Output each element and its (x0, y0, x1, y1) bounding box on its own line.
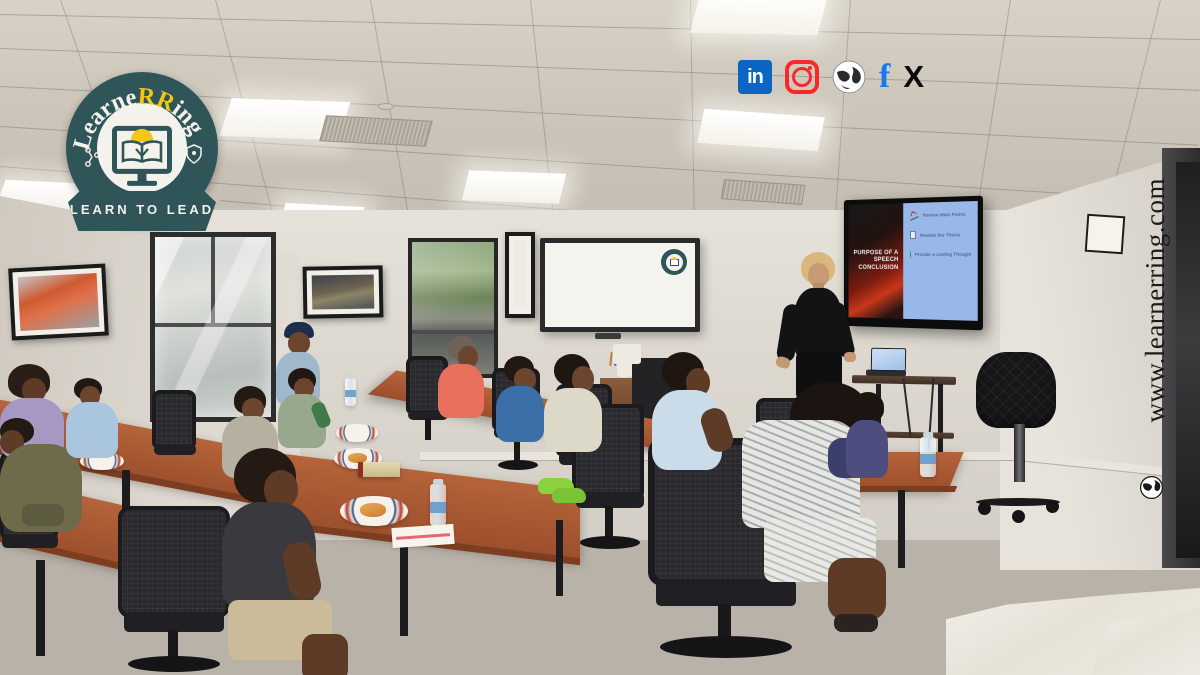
wall-display: PURPOSE OF A SPEECH CONCLUSION Review Ma… (844, 196, 983, 331)
water-bottle (430, 484, 446, 526)
ceiling-vent (319, 115, 433, 147)
whiteboard (540, 238, 700, 332)
table-leg (898, 490, 905, 568)
bottle-label (345, 390, 356, 397)
document-icon (910, 231, 916, 239)
framed-photo-helicopter (8, 264, 109, 341)
bottle-cap (923, 432, 933, 438)
laptop-display (872, 349, 905, 371)
stool-caster (978, 502, 991, 515)
network-icon (84, 146, 100, 168)
bottle-cap (347, 373, 354, 379)
water-bottle (920, 437, 936, 477)
chair-post (425, 418, 431, 440)
chair-seat (154, 444, 196, 455)
monitor-icon (112, 126, 172, 174)
certificate-paper (1087, 216, 1123, 252)
slide-bullet-text: Provide a Lasting Thought (915, 252, 972, 257)
window-mullion (211, 237, 215, 323)
photo-mat (509, 236, 531, 314)
whiteboard-logo-sticker (661, 249, 687, 275)
laptop-screen (871, 348, 906, 372)
leg (302, 634, 348, 675)
helicopter-photo (18, 273, 100, 331)
ceiling-light (690, 0, 828, 35)
arm (22, 504, 64, 526)
ceiling-light (462, 170, 567, 203)
ceiling-vent (721, 179, 806, 205)
website-url[interactable]: www.learnerring.com (1140, 178, 1171, 423)
snack-food (360, 503, 386, 517)
chair-base (660, 636, 792, 658)
framed-print-blank (505, 232, 535, 318)
student (652, 352, 738, 492)
chair-seat (124, 612, 224, 632)
shield-icon (186, 144, 202, 164)
photo-mat (12, 268, 104, 337)
bottle-label (920, 454, 936, 464)
office-chair (152, 390, 198, 480)
chart-icon (910, 212, 919, 219)
sneaker (552, 488, 586, 503)
napkin-stripe (396, 533, 451, 540)
bottle-label (430, 502, 446, 513)
framed-photo-aircraft (303, 265, 384, 318)
presenter-right-hand (844, 352, 856, 362)
chair-base (128, 656, 220, 672)
globe-icon (1140, 476, 1163, 499)
student (544, 354, 612, 484)
chair-backrest (152, 390, 196, 448)
globe-icon[interactable] (832, 60, 866, 94)
blank-print (514, 241, 526, 309)
student (216, 448, 352, 675)
torso (66, 402, 118, 458)
window-mullion (155, 323, 271, 327)
slide-bullet: Provide a Lasting Thought (910, 251, 971, 258)
aircraft-photo (312, 274, 375, 309)
slide-bullet-panel: Review Main Points Restate the Thesis Pr… (903, 201, 977, 321)
slide-bullet: Review Main Points (910, 210, 971, 219)
student (278, 368, 332, 452)
stool-caster (1046, 500, 1059, 513)
table-leg (400, 546, 408, 636)
door-glass (1176, 162, 1200, 558)
supply-cup (617, 362, 632, 377)
chair-post (605, 506, 613, 540)
leg (828, 558, 886, 620)
stool-post (1014, 424, 1025, 482)
student (846, 392, 892, 484)
slide-screen: PURPOSE OF A SPEECH CONCLUSION Review Ma… (848, 201, 977, 321)
face (288, 332, 310, 354)
learnerring-logo: LearneRRing (66, 72, 218, 224)
instagram-icon[interactable] (785, 60, 819, 94)
ceiling-light (697, 109, 825, 151)
student (494, 356, 550, 462)
framed-certificate (1085, 214, 1126, 255)
student (62, 378, 126, 474)
chair-base (580, 536, 640, 549)
torso (438, 364, 484, 418)
linkedin-icon[interactable]: in (738, 60, 772, 94)
logo-tagline: LEARN TO LEAD (70, 202, 214, 217)
tissue-box (613, 344, 641, 364)
torso (846, 420, 888, 478)
x-icon[interactable]: X (903, 60, 924, 94)
screenshot-stage: PURPOSE OF A SPEECH CONCLUSION Review Ma… (0, 0, 1200, 675)
book (358, 462, 400, 477)
photo-mat (307, 269, 380, 314)
paper-plate (336, 424, 378, 442)
social-icons-row: in f X (738, 60, 924, 94)
slide-bullet-text: Review Main Points (923, 212, 966, 218)
torso (496, 386, 544, 442)
open-book-icon (120, 140, 164, 164)
bottle-cap (433, 479, 443, 485)
smoke-detector-icon (378, 103, 394, 110)
rolling-stool-seat (976, 352, 1056, 428)
torso (544, 388, 602, 452)
slide-bullet: Restate the Thesis (910, 230, 971, 239)
stool-caster (1012, 510, 1025, 523)
green-dot-icon (910, 251, 911, 258)
water-bottle (345, 378, 356, 406)
table-leg (556, 520, 563, 596)
window-mullion (412, 330, 494, 334)
facebook-icon[interactable]: f (879, 60, 890, 94)
whiteboard-marker-tray (595, 333, 621, 339)
student (436, 336, 492, 440)
logo-tagline-banner: LEARN TO LEAD (68, 191, 216, 231)
chair-backrest (118, 506, 230, 618)
slide-bullet-text: Restate the Thesis (920, 232, 960, 238)
monitor-foot (127, 181, 157, 186)
shoe (834, 614, 878, 632)
hair (852, 392, 884, 422)
